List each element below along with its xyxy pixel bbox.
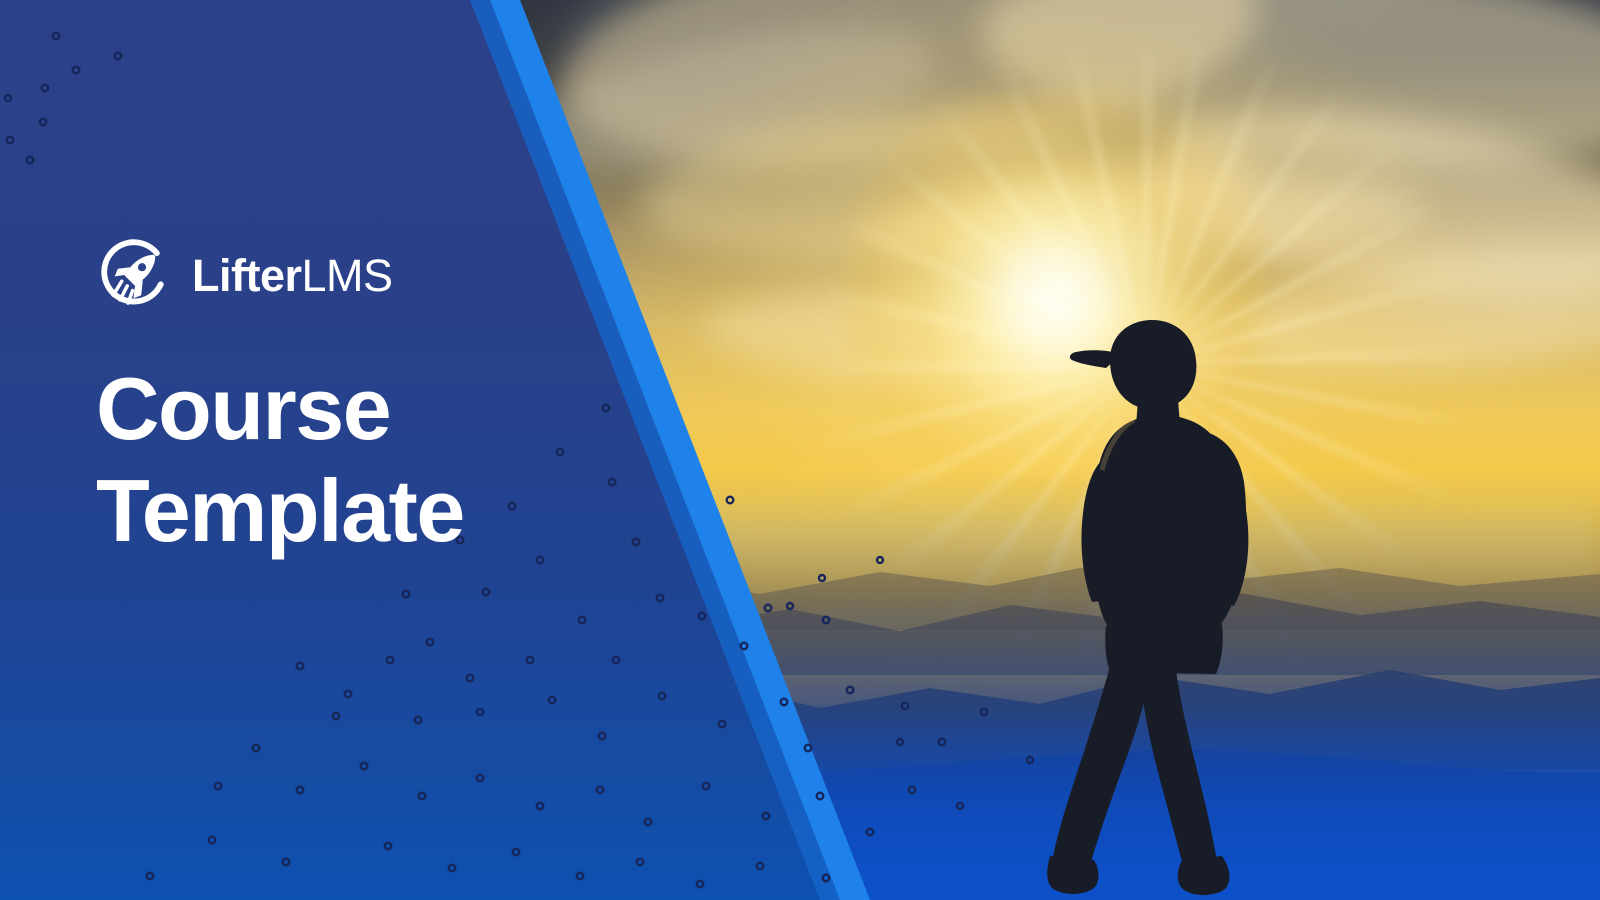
brand-name-bold: Lifter — [192, 250, 302, 301]
brand-name-light: LMS — [302, 250, 393, 301]
rocket-in-circle-icon — [96, 236, 174, 314]
foreground-blue-wash-lower — [0, 710, 1600, 900]
panel-content: LifterLMS Course Template — [96, 236, 616, 562]
brand-wordmark: LifterLMS — [192, 253, 393, 298]
headline-line-2: Template — [96, 460, 616, 562]
page-title: Course Template — [96, 358, 616, 562]
headline-line-1: Course — [96, 358, 616, 460]
brand-logo[interactable]: LifterLMS — [96, 236, 616, 314]
course-template-banner: LifterLMS Course Template — [0, 0, 1600, 900]
hiker-silhouette — [1010, 300, 1340, 900]
